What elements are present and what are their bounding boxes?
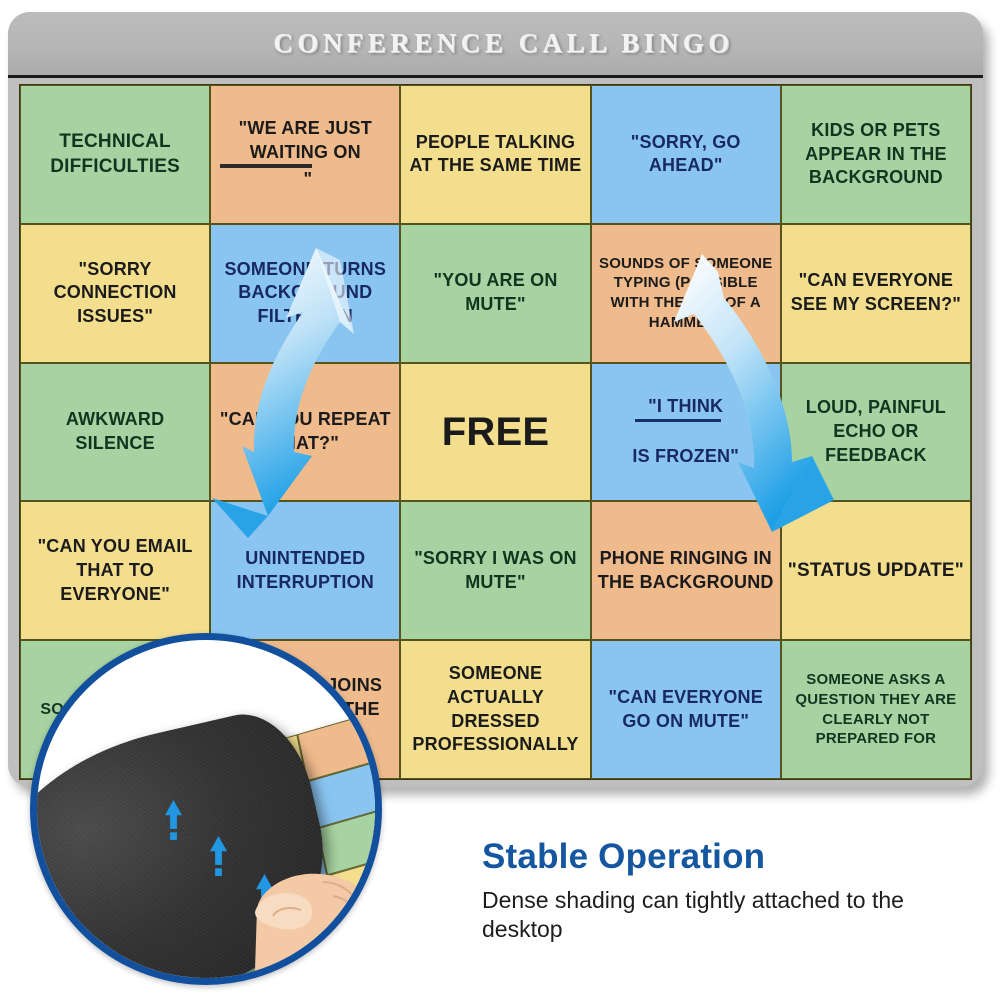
caption-title: Stable Operation — [482, 838, 982, 877]
feature-caption: Stable Operation Dense shading can tight… — [482, 838, 982, 945]
bingo-cell-text: UNINTENDED INTERRUPTION — [217, 547, 393, 595]
bingo-cell-text: FREE — [442, 406, 549, 459]
bingo-cell: "CAN EVERYONE GO ON MUTE" — [591, 640, 781, 779]
bingo-cell: KIDS OR PETS APPEAR IN THE BACKGROUND — [781, 85, 971, 224]
bingo-cell-text: TECHNICAL DIFFICULTIES — [27, 129, 203, 179]
bingo-cell-text: SOMEONE TURNS BACKGROUND FILTER ON — [217, 258, 393, 329]
bingo-cell-text: "YOU ARE ON MUTE" — [407, 269, 583, 317]
page-title: CONFERENCE CALL BINGO — [273, 28, 734, 59]
bingo-cell: "SORRY, GO AHEAD" — [591, 85, 781, 224]
bingo-cell-text: "SORRY, GO AHEAD" — [598, 131, 774, 179]
bingo-cell-text: "STATUS UPDATE" — [788, 558, 964, 583]
bingo-cell: PEOPLE TALKING AT THE SAME TIME — [400, 85, 590, 224]
inset-detail-photo: AHEAD"APPEAR IN THE BACKGROUNDSOUNDS OF … — [30, 633, 382, 985]
bingo-cell: "I THINK IS FROZEN" — [591, 363, 781, 502]
bingo-cell-text: SOMEONE ASKS A QUESTION THEY ARE CLEARLY… — [788, 670, 964, 749]
grip-arrow-icon — [165, 800, 182, 843]
bingo-cell-text: SOUNDS OF SOMEONE TYPING (POSSIBLE WITH … — [598, 254, 774, 333]
bingo-cell: LOUD, PAINFUL ECHO OR FEEDBACK — [781, 363, 971, 502]
bingo-cell: "CAN YOU EMAIL THAT TO EVERYONE" — [20, 501, 210, 640]
bingo-cell-text: "CAN EVERYONE GO ON MUTE" — [598, 686, 774, 734]
bingo-cell: "YOU ARE ON MUTE" — [400, 224, 590, 363]
bingo-cell: "CAN YOU REPEAT THAT?" — [210, 363, 400, 502]
bingo-cell-text: AWKWARD SILENCE — [27, 408, 203, 456]
caption-subtitle: Dense shading can tightly attached to th… — [482, 886, 982, 946]
hand-photo — [233, 820, 375, 985]
bingo-cell-text: "WE ARE JUST WAITING ON " — [217, 117, 393, 192]
bingo-cell: "WE ARE JUST WAITING ON " — [210, 85, 400, 224]
bingo-cell-text: "CAN EVERYONE SEE MY SCREEN?" — [788, 269, 964, 317]
bingo-cell-text: "I THINK IS FROZEN" — [632, 395, 739, 469]
grip-arrow-icon — [210, 836, 227, 879]
bingo-cell-text: PEOPLE TALKING AT THE SAME TIME — [407, 131, 583, 179]
bingo-cell: "CAN EVERYONE SEE MY SCREEN?" — [781, 224, 971, 363]
bingo-cell: SOMEONE ACTUALLY DRESSED PROFESSIONALLY — [400, 640, 590, 779]
bingo-cell: UNINTENDED INTERRUPTION — [210, 501, 400, 640]
bingo-cell: AWKWARD SILENCE — [20, 363, 210, 502]
bingo-cell: "SORRY I WAS ON MUTE" — [400, 501, 590, 640]
bingo-cell: FREE — [400, 363, 590, 502]
bingo-cell-text: "SORRY I WAS ON MUTE" — [407, 547, 583, 595]
bingo-cell-text: KIDS OR PETS APPEAR IN THE BACKGROUND — [788, 119, 964, 190]
bingo-cell: PHONE RINGING IN THE BACKGROUND — [591, 501, 781, 640]
bingo-cell: SOUNDS OF SOMEONE TYPING (POSSIBLE WITH … — [591, 224, 781, 363]
bingo-cell-text: LOUD, PAINFUL ECHO OR FEEDBACK — [788, 396, 964, 467]
bingo-cell-text: PHONE RINGING IN THE BACKGROUND — [598, 547, 774, 595]
bingo-cell-text: "CAN YOU EMAIL THAT TO EVERYONE" — [27, 535, 203, 606]
bingo-cell: SOMEONE ASKS A QUESTION THEY ARE CLEARLY… — [781, 640, 971, 779]
bingo-cell: SOMEONE TURNS BACKGROUND FILTER ON — [210, 224, 400, 363]
bingo-cell: "SORRY CONNECTION ISSUES" — [20, 224, 210, 363]
bingo-cell-text: "SORRY CONNECTION ISSUES" — [27, 258, 203, 329]
product-image: CONFERENCE CALL BINGO TECHNICAL DIFFICUL… — [0, 0, 1000, 1002]
bingo-cell-text: "CAN YOU REPEAT THAT?" — [217, 408, 393, 456]
bingo-cell-text: SOMEONE ACTUALLY DRESSED PROFESSIONALLY — [407, 662, 583, 757]
bingo-cell: "STATUS UPDATE" — [781, 501, 971, 640]
mousepad-header-bar: CONFERENCE CALL BINGO — [8, 12, 983, 78]
bingo-cell: TECHNICAL DIFFICULTIES — [20, 85, 210, 224]
